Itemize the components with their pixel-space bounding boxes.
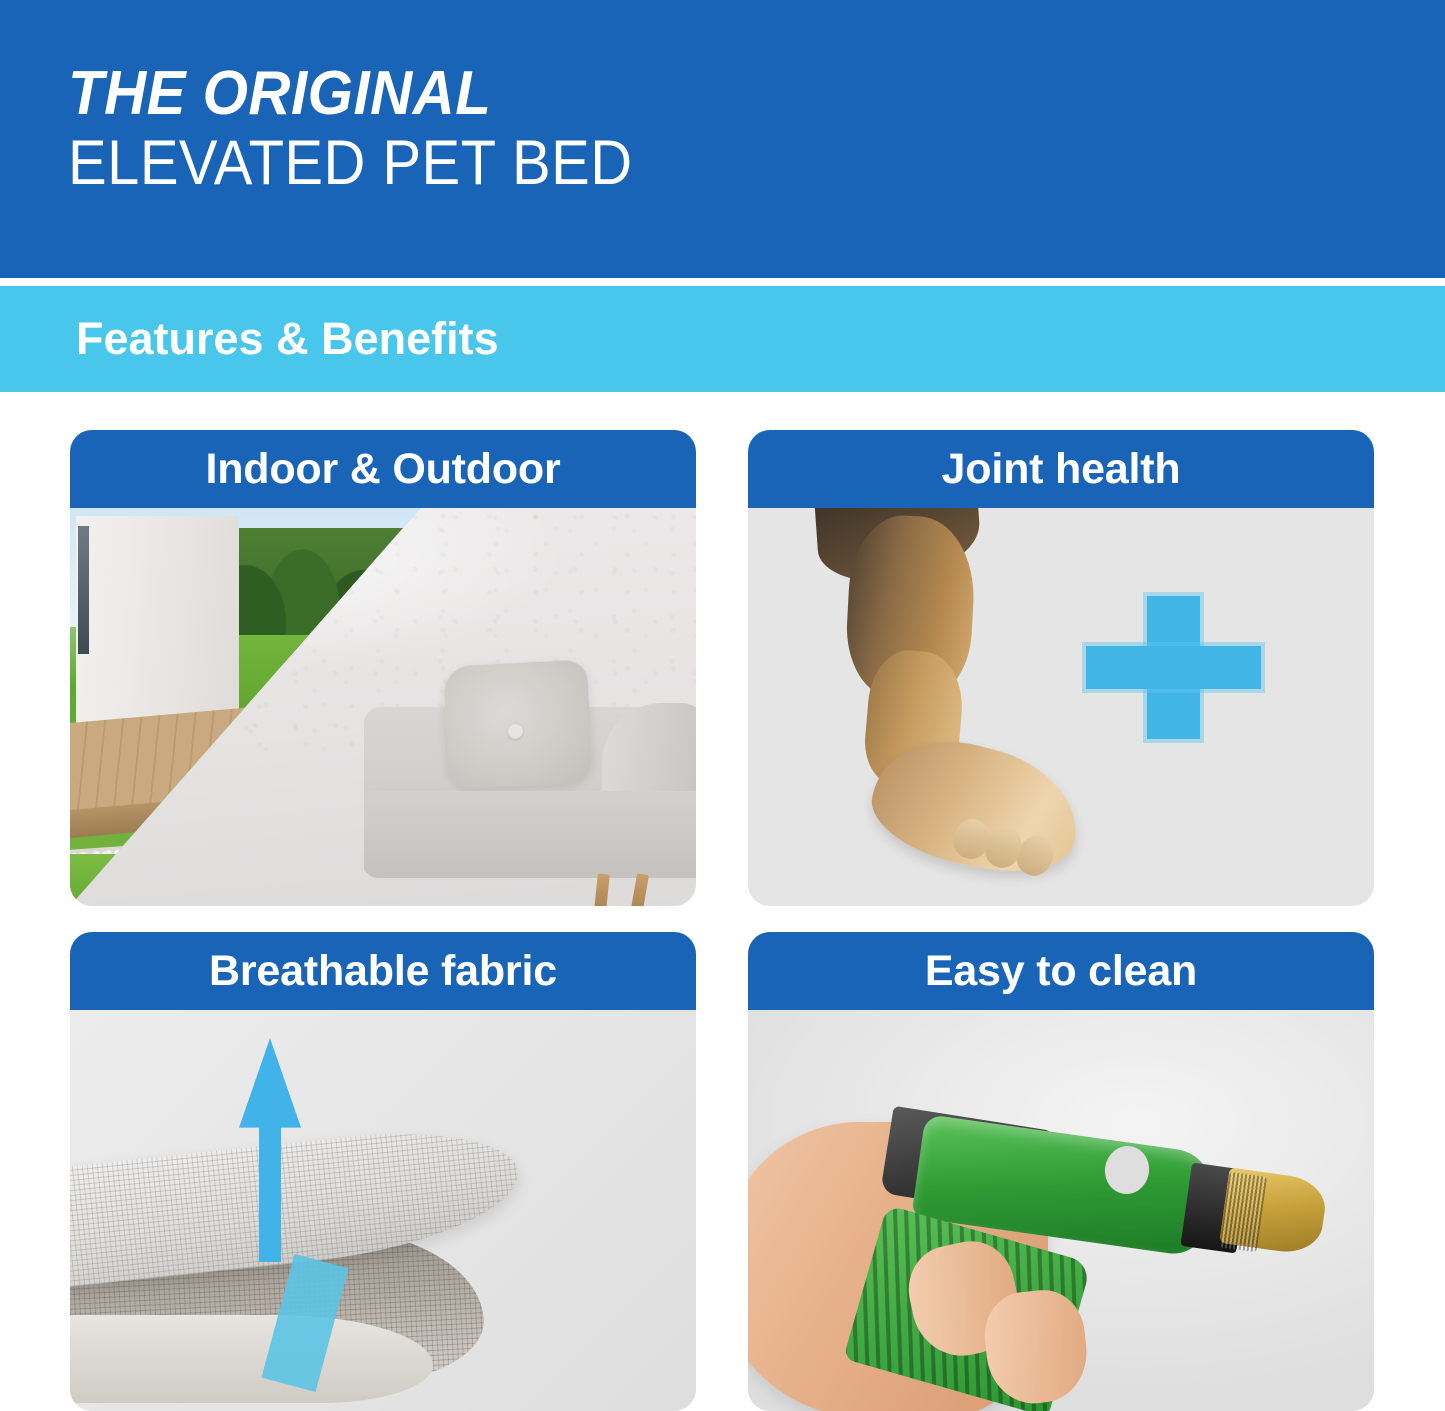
- arrow-shaft: [259, 1119, 280, 1262]
- glass-door: [78, 526, 89, 654]
- indoor-outdoor-split-photo: [70, 508, 696, 906]
- feature-card-breathable-fabric: Breathable fabric: [70, 932, 696, 1411]
- card-image-easy-to-clean: [748, 1010, 1374, 1411]
- card-title-joint-health: Joint health: [942, 448, 1181, 491]
- product-title-secondary: ELEVATED PET BED: [68, 129, 633, 197]
- card-header-joint-health: Joint health: [748, 430, 1374, 508]
- sofa-leg: [595, 874, 611, 906]
- airflow-arrow-icon: [239, 1038, 301, 1262]
- feature-card-indoor-outdoor: Indoor & Outdoor: [70, 430, 696, 906]
- masthead-title-group: THE ORIGINAL ELEVATED PET BED: [68, 62, 682, 197]
- product-title-primary: THE ORIGINAL: [68, 62, 645, 125]
- card-title-indoor-outdoor: Indoor & Outdoor: [205, 448, 560, 491]
- features-benefits-band: Features & Benefits: [0, 286, 1445, 392]
- sofa-cushion: [442, 660, 592, 791]
- arrow-head: [239, 1038, 301, 1128]
- cushion-button: [507, 723, 524, 740]
- card-title-easy-to-clean: Easy to clean: [925, 950, 1197, 993]
- card-header-breathable-fabric: Breathable fabric: [70, 932, 696, 1010]
- masthead-banner: THE ORIGINAL ELEVATED PET BED: [0, 0, 1445, 278]
- card-image-breathable-fabric: [70, 1010, 696, 1411]
- feature-card-grid: Indoor & Outdoor: [0, 430, 1445, 1411]
- feature-card-easy-to-clean: Easy to clean: [748, 932, 1374, 1411]
- hose-nozzle-photo: [748, 1010, 1374, 1411]
- mesh-fabric-edge: [70, 1315, 433, 1403]
- breathable-fabric-photo: [70, 1010, 696, 1411]
- features-benefits-label: Features & Benefits: [76, 313, 499, 365]
- card-header-easy-to-clean: Easy to clean: [748, 932, 1374, 1010]
- feature-card-joint-health: Joint health: [748, 430, 1374, 906]
- product-infographic: THE ORIGINAL ELEVATED PET BED Features &…: [0, 0, 1445, 1411]
- medical-cross-icon: [1086, 596, 1261, 739]
- joint-health-photo: [748, 508, 1374, 906]
- cross-horizontal-bar: [1086, 646, 1261, 689]
- card-title-breathable-fabric: Breathable fabric: [209, 950, 557, 993]
- sofa-seat: [364, 791, 696, 879]
- card-image-joint-health: [748, 508, 1374, 906]
- card-image-indoor-outdoor: [70, 508, 696, 906]
- card-header-indoor-outdoor: Indoor & Outdoor: [70, 430, 696, 508]
- sofa-leg: [631, 873, 649, 906]
